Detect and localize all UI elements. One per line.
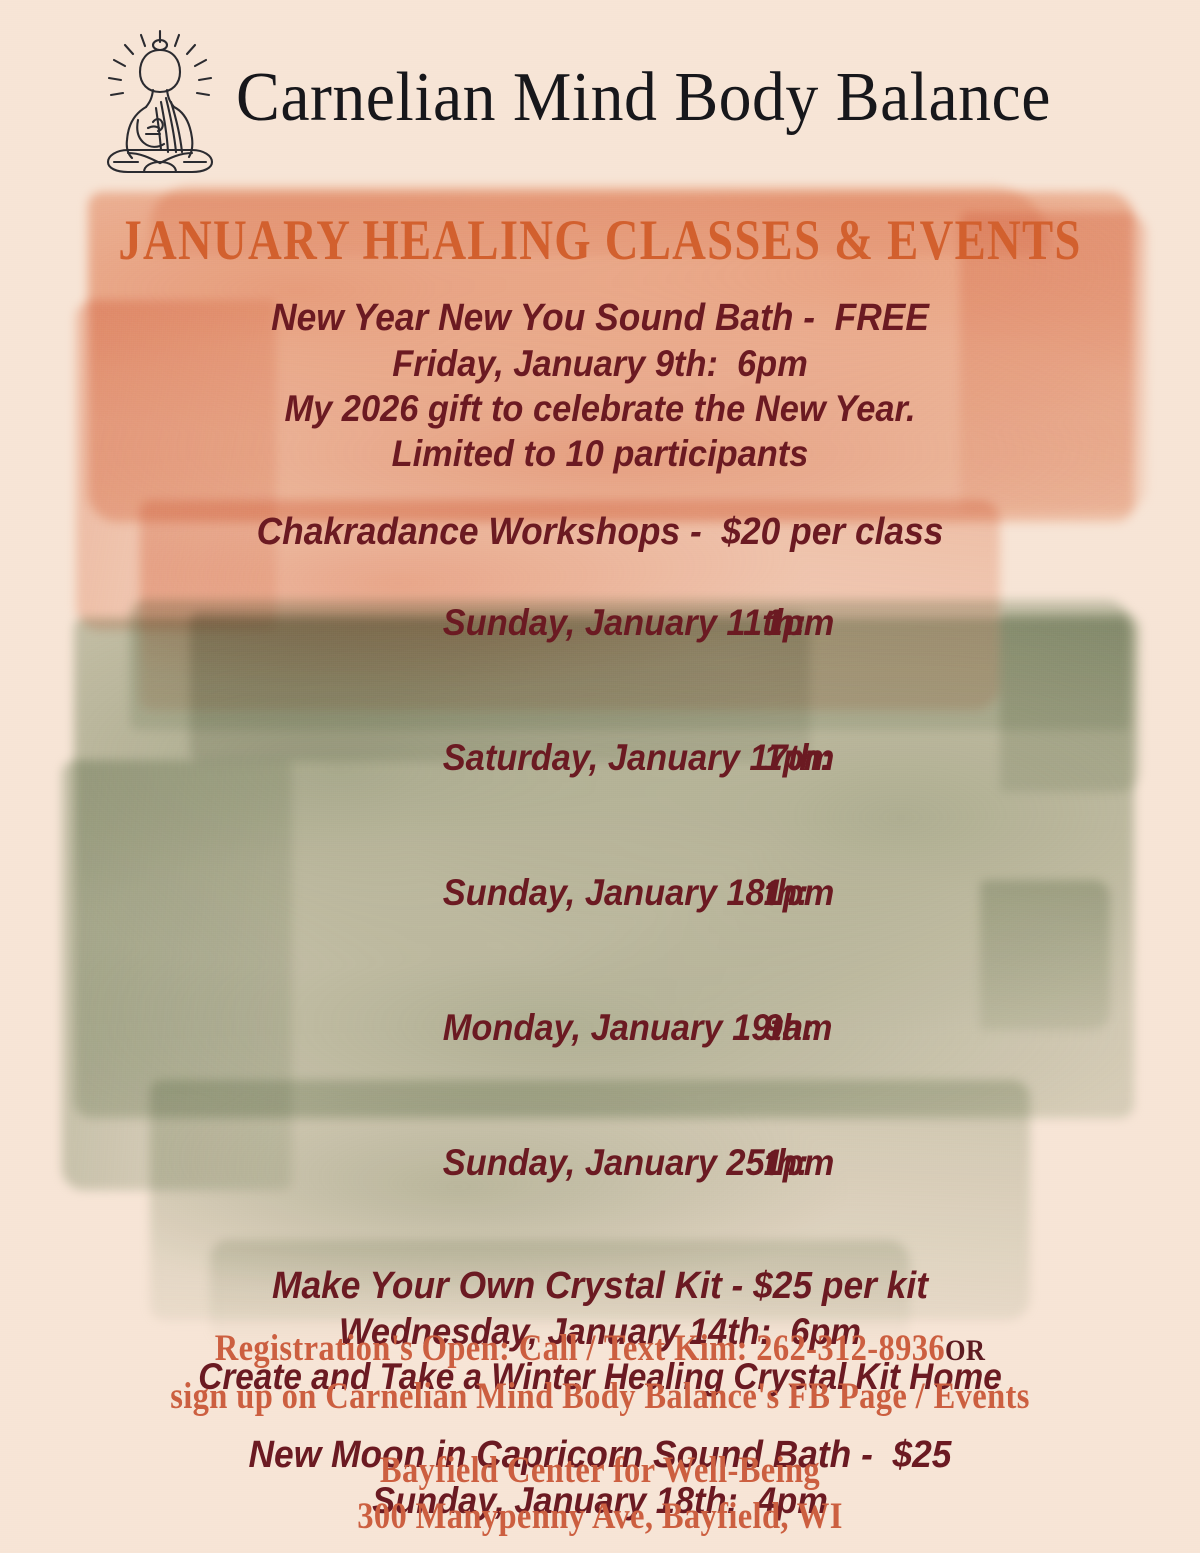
venue-name: Bayfield Center for Well-Being [72, 1448, 1128, 1494]
schedule-day: Sunday, January 25th: [443, 1140, 764, 1185]
registration-or-label: OR [945, 1334, 985, 1367]
registration-line-1: Registration's Open: Call / Text Kim: 26… [72, 1326, 1128, 1374]
registration-line-2: sign up on Carnelian Mind Body Balance's… [72, 1374, 1128, 1420]
schedule-time: 1pm [763, 1140, 834, 1185]
event-detail-line: My 2026 gift to celebrate the New Year. [42, 386, 1158, 431]
schedule-day: Monday, January 19th: [443, 1005, 764, 1050]
page-title: JANUARY HEALING CLASSES & EVENTS [108, 212, 1092, 269]
event-detail-line: Friday, January 9th: 6pm [42, 341, 1158, 386]
brand-wordmark: Carnelian Mind Body Balance [236, 63, 1051, 133]
venue-info: Bayfield Center for Well-Being 300 Manyp… [0, 1448, 1200, 1540]
schedule-row: Sunday, January 25th:1pm [328, 1095, 834, 1230]
schedule-row: Sunday, January 11th:1pm [328, 555, 834, 690]
event-title: Make Your Own Crystal Kit - $25 per kit [42, 1264, 1158, 1309]
event-new-year-new-you-sound-bath: New Year New You Sound Bath - FREE Frida… [0, 296, 1200, 476]
schedule-time: 1pm [763, 735, 834, 780]
schedule-time: 9am [763, 1005, 832, 1050]
registration-text: Registration's Open: Call / Text Kim: 26… [215, 1328, 945, 1369]
schedule-row: Sunday, January 18th:1pm [328, 825, 834, 960]
schedule-row: Monday, January 19th:9am [328, 960, 834, 1095]
brand-header: Carnelian Mind Body Balance [0, 22, 1200, 174]
event-detail-line: Limited to 10 participants [42, 431, 1158, 476]
meditating-buddha-lotus-icon [98, 22, 222, 174]
event-title: Chakradance Workshops - $20 per class [42, 510, 1158, 555]
event-title: New Year New You Sound Bath - FREE [42, 296, 1158, 341]
schedule-time: 1pm [763, 600, 834, 645]
schedule-row: Saturday, January 17th:1pm [328, 690, 834, 825]
schedule-day: Sunday, January 11th: [443, 600, 764, 645]
venue-address: 300 Manypenny Ave, Bayfield, WI [72, 1494, 1128, 1540]
schedule-day: Sunday, January 18th: [443, 870, 764, 915]
schedule-list: Sunday, January 11th:1pm Saturday, Janua… [328, 555, 872, 1230]
registration-info: Registration's Open: Call / Text Kim: 26… [0, 1326, 1200, 1420]
event-chakradance-workshops: Chakradance Workshops - $20 per class Su… [0, 510, 1200, 1230]
schedule-day: Saturday, January 17th: [443, 735, 764, 780]
schedule-time: 1pm [763, 870, 834, 915]
flyer-canvas: Carnelian Mind Body Balance JANUARY HEAL… [0, 0, 1200, 1553]
